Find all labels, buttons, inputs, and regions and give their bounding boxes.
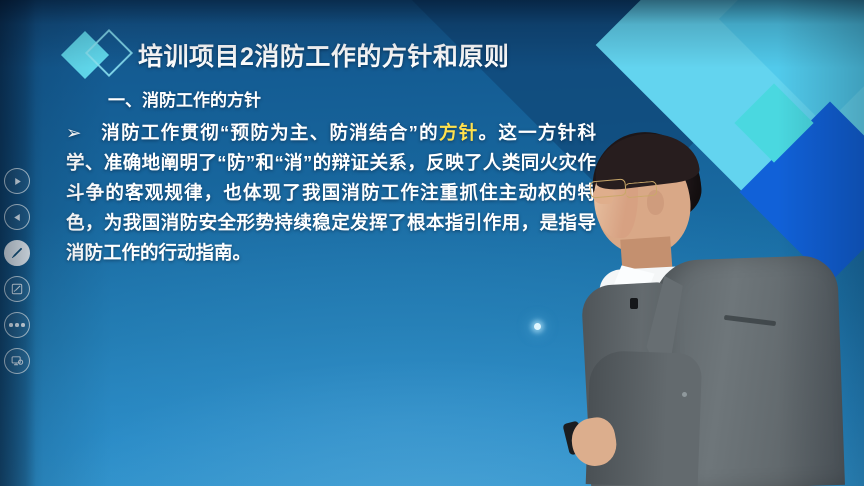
more-dots	[9, 323, 25, 327]
slide-title-row: 培训项目2消防工作的方针和原则	[66, 27, 509, 83]
lapel-microphone-icon	[630, 298, 638, 309]
page-title: 培训项目2消防工作的方针和原则	[138, 37, 509, 73]
play-icon[interactable]	[4, 168, 30, 194]
laser-dot	[534, 323, 541, 330]
paragraph-highlight: 方针	[439, 122, 479, 143]
pen-icon[interactable]	[4, 240, 30, 266]
previous-icon[interactable]	[4, 204, 30, 230]
diamond-logo	[66, 30, 138, 80]
display-icon[interactable]	[4, 348, 30, 374]
paragraph-part-2: 。这一方针科学、准确地阐明了“防”和“消”的辩证关系，反映了人类同火灾作斗争的客…	[66, 122, 596, 263]
slide-subheading: 一、消防工作的方针	[66, 88, 596, 114]
toolbar-items	[4, 168, 30, 374]
presenter	[564, 0, 864, 486]
slide-presentation-screenshot: 培训项目2消防工作的方针和原则 一、消防工作的方针 ➢消防工作贯彻“预防为主、防…	[0, 0, 864, 486]
presenter-glasses	[590, 180, 662, 197]
slide-paragraph: ➢消防工作贯彻“预防为主、防消结合”的方针。这一方针科学、准确地阐明了“防”和“…	[66, 118, 596, 268]
laser-pointer-icon[interactable]	[4, 276, 30, 302]
presenter-jacket-button	[682, 392, 687, 397]
left-toolbar	[0, 0, 36, 486]
slide-body: 一、消防工作的方针 ➢消防工作贯彻“预防为主、防消结合”的方针。这一方针科学、准…	[66, 88, 596, 268]
paragraph-part-1: 消防工作贯彻“预防为主、防消结合”的	[100, 122, 439, 143]
more-options-icon[interactable]	[4, 312, 30, 338]
bullet-arrow-icon: ➢	[66, 118, 100, 148]
